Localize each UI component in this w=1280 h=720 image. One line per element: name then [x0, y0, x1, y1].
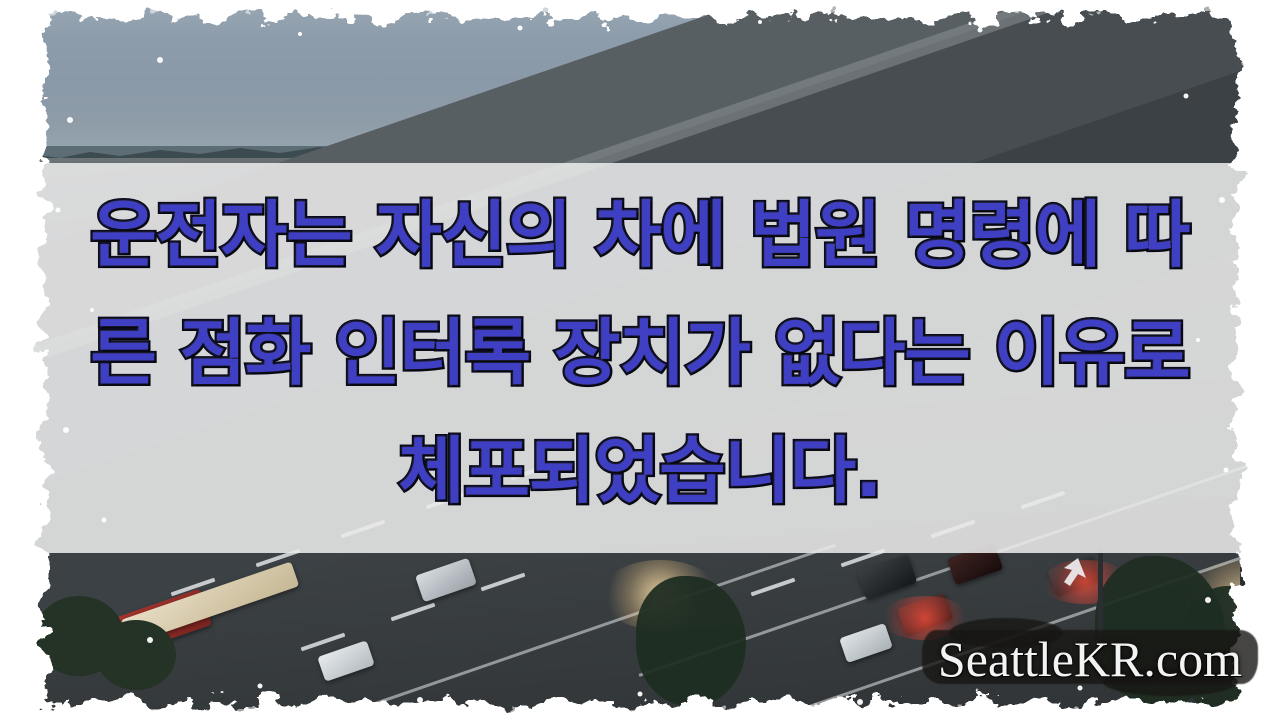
site-watermark: SeattleKR.com — [922, 626, 1258, 696]
watermark-label: SeattleKR.com — [938, 634, 1242, 684]
caption-line-1: 운전자는 자신의 차에 법원 명령에 따 — [0, 176, 1280, 294]
caption-line-3: 체포되었습니다. — [0, 412, 1280, 530]
caption-text: 운전자는 자신의 차에 법원 명령에 따 른 점화 인터록 장치가 없다는 이유… — [0, 176, 1280, 530]
caption-line-2: 른 점화 인터록 장치가 없다는 이유로 — [0, 294, 1280, 412]
thumbnail-canvas: 운전자는 자신의 차에 법원 명령에 따 른 점화 인터록 장치가 없다는 이유… — [0, 0, 1280, 720]
roadside-bush — [96, 620, 176, 690]
lane-direction-arrow — [1040, 552, 1096, 608]
roadside-tree — [636, 576, 746, 706]
